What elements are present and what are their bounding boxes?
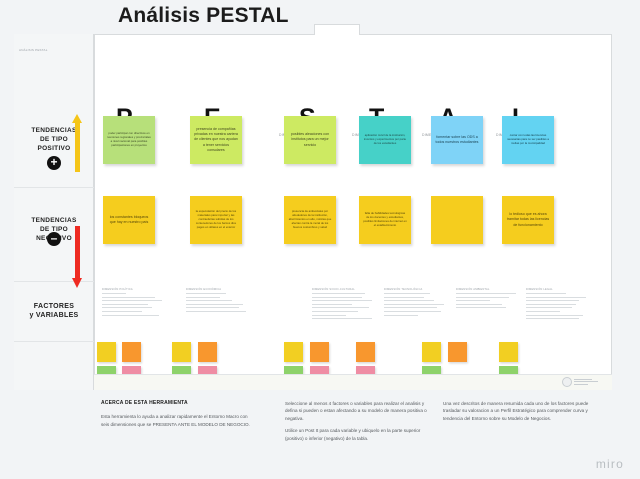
board-frame-top-left-edge (94, 34, 314, 35)
legend-column: ANÁLISIS PESTAL TENDENCIASDE TIPOPOSITIV… (14, 34, 94, 390)
palette-note-orange[interactable] (356, 342, 375, 362)
stamp-seal-icon (562, 377, 572, 387)
legend-negative-row: TENDENCIASDE TIPONEGATIVO – (14, 188, 94, 282)
arrow-up-icon (72, 114, 83, 172)
palette-note-orange[interactable] (448, 342, 467, 362)
legend-positive-row: TENDENCIASDE TIPOPOSITIVO + (14, 104, 94, 188)
factor-list-l: DIMENSIÓN LEGAL (526, 288, 612, 322)
stamp-text-lines (574, 379, 598, 385)
sticky-note-negative-e[interactable]: la especulación del precio de los materi… (190, 196, 242, 244)
miro-watermark: miro (596, 457, 624, 471)
palette-note-orange[interactable] (310, 342, 329, 362)
legend-factors-label: FACTORESy VARIABLES (14, 302, 94, 320)
sticky-note-negative-p[interactable]: los constantes bloqueos que hay en nuest… (103, 196, 155, 244)
factors-lists-area: DIMENSIÓN POLÍTICA DIMENSIÓN ECONÓMICA D… (94, 282, 612, 342)
sticky-note-positive-a[interactable]: fomentar sobre las ODS a todos nuestros … (431, 116, 483, 164)
help-about-text: Esta herramienta lo ayuda a analizar rap… (101, 413, 251, 428)
help-about-column: ACERCA DE ESTA HERRAMIENTA Esta herramie… (101, 400, 251, 428)
help-instruction-1: Seleccione al menos 4 factores o variabl… (285, 400, 430, 422)
help-summary-column: Una vez descritos de manera resumida cad… (443, 400, 595, 422)
arrow-down-icon (72, 226, 83, 288)
sticky-note-positive-l[interactable]: contar con todas las licencias necesaria… (502, 116, 554, 164)
legend-watermark-label: ANÁLISIS PESTAL (19, 48, 48, 52)
palette-note-yellow[interactable] (499, 342, 518, 362)
palette-note-yellow[interactable] (422, 342, 441, 362)
board-stamp (562, 375, 604, 388)
help-about-heading: ACERCA DE ESTA HERRAMIENTA (101, 400, 251, 407)
plus-sign-icon: + (47, 156, 61, 170)
palette-note-orange[interactable] (198, 342, 217, 362)
help-instruction-3: Una vez descritos de manera resumida cad… (443, 400, 595, 422)
sticky-note-positive-s[interactable]: posibles aleaciones con institutos para … (284, 116, 336, 164)
page-title: Análisis PESTAL (118, 4, 289, 28)
sticky-note-positive-t[interactable]: aplicación móvil de la institución, inve… (359, 116, 411, 164)
palette-note-yellow[interactable] (284, 342, 303, 362)
miro-board-screen: Análisis PESTAL ANÁLISIS PESTAL TENDENCI… (0, 0, 640, 479)
palette-note-yellow[interactable] (97, 342, 116, 362)
board-frame-top-right-edge (360, 34, 612, 35)
board-canvas[interactable]: ANÁLISIS PESTAL TENDENCIASDE TIPOPOSITIV… (14, 34, 612, 390)
minus-sign-icon: – (47, 232, 61, 246)
palette-note-yellow[interactable] (172, 342, 191, 362)
sticky-note-negative-t[interactable]: falta de habilidades tecnológicas de los… (359, 196, 411, 244)
sticky-note-negative-a[interactable] (431, 196, 483, 244)
board-footer-band (94, 374, 612, 390)
sticky-note-negative-s[interactable]: presencia de antisociales por alrededore… (284, 196, 336, 244)
palette-note-orange[interactable] (122, 342, 141, 362)
factor-list-e: DIMENSIÓN ECONÓMICA (186, 288, 272, 315)
sticky-note-positive-e[interactable]: presencia de compañías privadas en nuest… (190, 116, 242, 164)
help-instructions-column: Seleccione al menos 4 factores o variabl… (285, 400, 430, 442)
legend-factors-row: FACTORESy VARIABLES (14, 282, 94, 342)
sticky-note-negative-l[interactable]: lo tedioso que es ahora tramitar todas l… (502, 196, 554, 244)
help-instruction-2: Utilice un Post It para cada variable y … (285, 427, 430, 442)
sticky-note-positive-p[interactable]: poder participar con directivos en reuni… (103, 116, 155, 164)
board-frame-notch (314, 24, 360, 35)
factor-list-p: DIMENSIÓN POLÍTICA (102, 288, 188, 318)
